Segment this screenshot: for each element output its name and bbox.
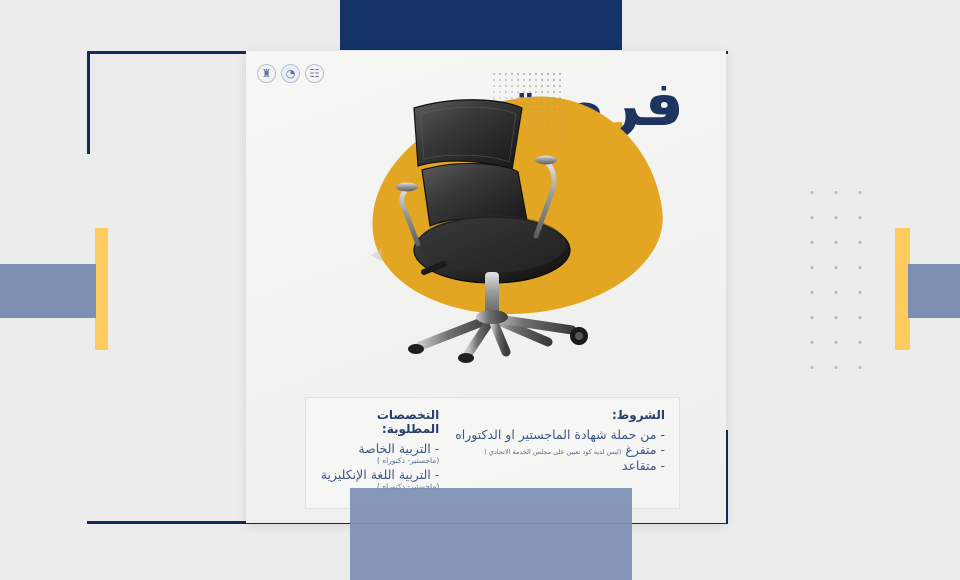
condition-item-text: - متفرغ: [625, 442, 665, 457]
frame-line-left: [87, 51, 90, 154]
triangle-accent-left: [371, 248, 382, 262]
job-vacancy-poster: ♜ ◔ ☷ عمل فرصة: [246, 51, 726, 523]
slate-block-bottom: [350, 488, 632, 580]
specializations-column: التخصصات المطلوبة: - التربية الخاصة (ماج…: [320, 408, 439, 493]
specializations-heading: التخصصات المطلوبة:: [320, 408, 439, 436]
slate-block-right: [908, 264, 960, 318]
institute-badge-logo: ☷: [305, 64, 324, 83]
dot-grid-pattern: [798, 178, 868, 378]
university-seal-logo: ◔: [281, 64, 300, 83]
job-details-columns: التخصصات المطلوبة: - التربية الخاصة (ماج…: [306, 398, 679, 501]
office-chair-illustration: [396, 96, 626, 366]
condition-item: - من حملة شهادة الماجستير او الدكتوراه: [455, 427, 665, 442]
specialization-note: (ماجستير- دكتوراه ): [320, 456, 439, 466]
slate-block-left: [0, 264, 96, 318]
condition-item-note: (ليس لديه كود تعيين على مجلس الخدمة الات…: [484, 448, 621, 456]
logo-row: ♜ ◔ ☷: [257, 64, 324, 83]
ministry-emblem-logo: ♜: [257, 64, 276, 83]
specialization-item: - التربية اللغة الإنكليزية: [320, 467, 439, 482]
yellow-accent-bar-left: [95, 228, 108, 350]
conditions-column: الشروط: - من حملة شهادة الماجستير او الد…: [455, 408, 665, 493]
conditions-heading: الشروط:: [455, 408, 665, 422]
navy-top-block: [340, 0, 622, 50]
condition-item: - متقاعد: [455, 458, 665, 473]
poster-canvas: ♜ ◔ ☷ عمل فرصة: [0, 0, 960, 580]
specialization-item: - التربية الخاصة: [320, 441, 439, 456]
condition-item: - متفرغ (ليس لديه كود تعيين على مجلس الخ…: [455, 442, 665, 457]
